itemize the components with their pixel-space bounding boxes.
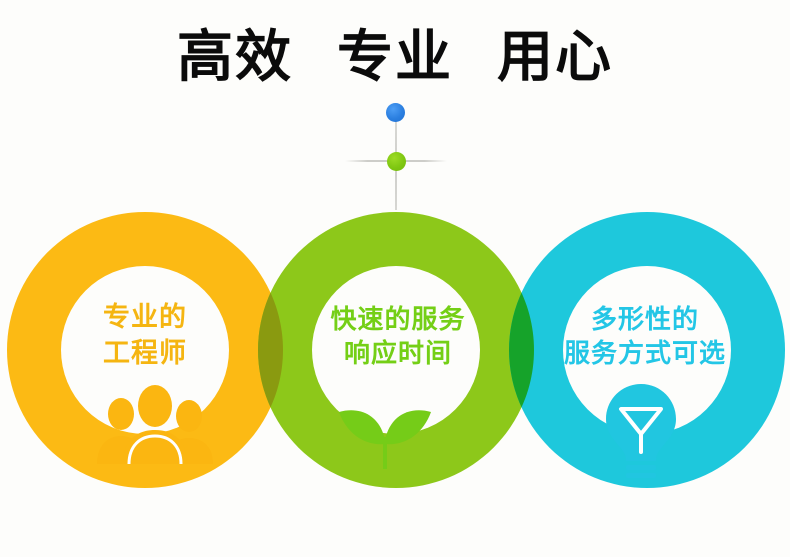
venn-rings-group	[0, 185, 790, 515]
green-node-dot	[387, 152, 406, 171]
poster-canvas: 高效专业用心	[0, 0, 790, 557]
blue-node-dot	[386, 103, 405, 122]
